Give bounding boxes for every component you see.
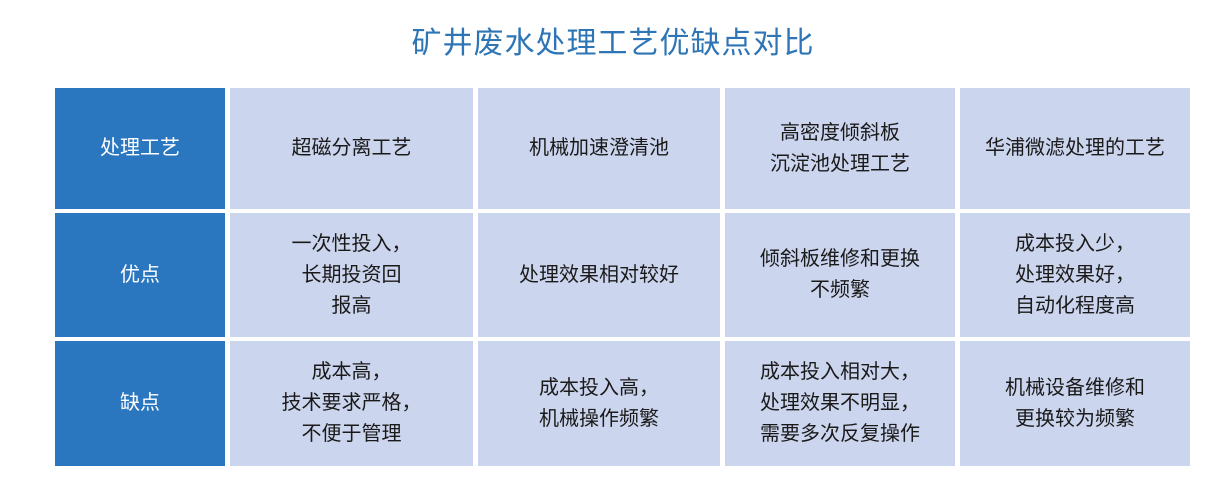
row-header-disadvantages: 缺点 [55, 341, 225, 466]
table-row: 缺点 成本高， 技术要求严格， 不便于管理 成本投入高， 机械操作频繁 成本投入… [55, 341, 1192, 466]
cell-text: 机械加速澄清池 [529, 133, 669, 164]
cell-text: 处理效果相对较好 [519, 260, 679, 291]
table-cell: 高密度倾斜板 沉淀池处理工艺 [725, 88, 955, 209]
comparison-table: 处理工艺 超磁分离工艺 机械加速澄清池 高密度倾斜板 沉淀池处理工艺 华浦微滤处… [55, 88, 1192, 466]
table-cell: 成本投入高， 机械操作频繁 [478, 341, 720, 466]
table-cell: 成本高， 技术要求严格， 不便于管理 [230, 341, 473, 466]
cell-text: 处理工艺 [100, 133, 180, 164]
row-header-advantages: 优点 [55, 213, 225, 337]
table-cell: 成本投入少， 处理效果好， 自动化程度高 [960, 213, 1190, 337]
cell-text: 成本投入少， 处理效果好， 自动化程度高 [1015, 229, 1135, 322]
cell-text: 一次性投入， 长期投资回 报高 [292, 229, 412, 322]
cell-text: 成本投入高， 机械操作频繁 [539, 373, 659, 435]
table-cell: 倾斜板维修和更换 不频繁 [725, 213, 955, 337]
cell-text: 成本投入相对大， 处理效果不明显， 需要多次反复操作 [760, 357, 920, 450]
comparison-table-page: 矿井废水处理工艺优缺点对比 处理工艺 超磁分离工艺 机械加速澄清池 高密度倾斜板… [0, 0, 1226, 485]
cell-text: 超磁分离工艺 [292, 133, 412, 164]
row-header-process: 处理工艺 [55, 88, 225, 209]
table-cell: 成本投入相对大， 处理效果不明显， 需要多次反复操作 [725, 341, 955, 466]
cell-text: 优点 [120, 260, 160, 291]
cell-text: 缺点 [120, 388, 160, 419]
page-title: 矿井废水处理工艺优缺点对比 [0, 24, 1226, 64]
cell-text: 高密度倾斜板 沉淀池处理工艺 [770, 118, 910, 180]
table-cell: 机械设备维修和 更换较为频繁 [960, 341, 1190, 466]
cell-text: 成本高， 技术要求严格， 不便于管理 [282, 357, 422, 450]
table-row: 优点 一次性投入， 长期投资回 报高 处理效果相对较好 倾斜板维修和更换 不频繁… [55, 213, 1192, 337]
cell-text: 倾斜板维修和更换 不频繁 [760, 244, 920, 306]
cell-text: 机械设备维修和 更换较为频繁 [1005, 373, 1145, 435]
cell-text: 华浦微滤处理的工艺 [985, 133, 1165, 164]
table-cell: 一次性投入， 长期投资回 报高 [230, 213, 473, 337]
table-row: 处理工艺 超磁分离工艺 机械加速澄清池 高密度倾斜板 沉淀池处理工艺 华浦微滤处… [55, 88, 1192, 209]
table-cell: 处理效果相对较好 [478, 213, 720, 337]
table-cell: 华浦微滤处理的工艺 [960, 88, 1190, 209]
table-cell: 超磁分离工艺 [230, 88, 473, 209]
table-cell: 机械加速澄清池 [478, 88, 720, 209]
